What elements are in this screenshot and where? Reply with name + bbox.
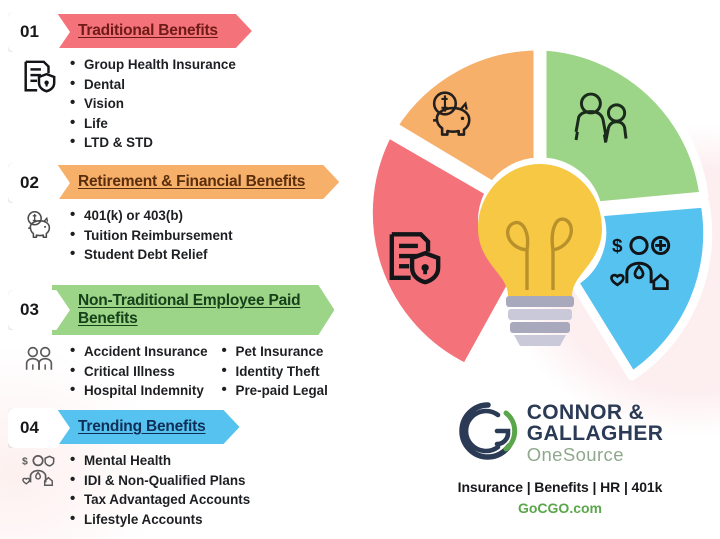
list-item: Tuition Reimbursement <box>70 226 233 246</box>
bullet-column-1: 401(k) or 403(b) Tuition Reimbursement S… <box>70 206 233 265</box>
bullet-column-1: Group Health Insurance Dental Vision Lif… <box>70 55 236 153</box>
section-banner: Traditional Benefits 01 <box>0 12 392 50</box>
list-item: Vision <box>70 94 236 114</box>
list-item: Pet Insurance <box>222 342 328 362</box>
list-item: LTD & STD <box>70 133 236 153</box>
section-title-chevron: Traditional Benefits <box>52 14 252 48</box>
section-banner: Trending Benefits 04 <box>0 408 392 446</box>
list-item: IDI & Non-Qualified Plans <box>70 471 250 491</box>
benefit-section-01: Traditional Benefits 01 <box>0 12 392 153</box>
document-shield-icon <box>8 54 70 153</box>
section-body: 401(k) or 403(b) Tuition Reimbursement S… <box>0 201 392 265</box>
section-number: 02 <box>20 173 39 193</box>
wellness-person-icon: $ <box>8 450 70 529</box>
list-item: Identity Theft <box>222 362 328 382</box>
benefit-section-02: Retirement & Financial Benefits 02 <box>0 163 392 265</box>
section-bullet-list: Group Health Insurance Dental Vision Lif… <box>70 54 236 153</box>
benefit-section-04: Trending Benefits 04 $ <box>0 408 392 529</box>
cgo-monogram-logo <box>457 400 519 467</box>
section-title-line2: Benefits <box>78 310 138 328</box>
logo-line-1: CONNOR & <box>527 402 664 423</box>
section-bullet-list: Accident Insurance Critical Illness Hosp… <box>70 341 328 401</box>
list-item: Tax Advantaged Accounts <box>70 490 250 510</box>
benefits-list-column: Traditional Benefits 01 <box>0 0 392 539</box>
bullet-column-2: Pet Insurance Identity Theft Pre-paid Le… <box>222 342 328 401</box>
list-item: Group Health Insurance <box>70 55 236 75</box>
section-title: Trending Benefits <box>78 418 206 436</box>
section-body: Accident Insurance Critical Illness Hosp… <box>0 337 392 401</box>
section-title-chevron: Trending Benefits <box>52 410 240 444</box>
list-item: Accident Insurance <box>70 342 208 362</box>
list-item: 401(k) or 403(b) <box>70 206 233 226</box>
list-item: Mental Health <box>70 451 250 471</box>
section-title-chevron: Retirement & Financial Benefits <box>52 165 339 199</box>
section-body: Group Health Insurance Dental Vision Lif… <box>0 50 392 153</box>
section-title-line1: Non-Traditional Employee Paid <box>78 292 300 310</box>
infographic-canvas: Traditional Benefits 01 <box>0 0 720 539</box>
section-number: 01 <box>20 22 39 42</box>
list-item: Pre-paid Legal <box>222 381 328 401</box>
section-bullet-list: Mental Health IDI & Non-Qualified Plans … <box>70 450 250 529</box>
section-banner: Non-Traditional Employee Paid Benefits 0… <box>0 283 392 337</box>
company-logo-block: CONNOR & GALLAGHER OneSource Insurance |… <box>410 400 710 516</box>
logo-line-3: OneSource <box>527 444 664 465</box>
bullet-column-1: Accident Insurance Critical Illness Hosp… <box>70 342 208 401</box>
section-banner: Retirement & Financial Benefits 02 <box>0 163 392 201</box>
list-item: Life <box>70 114 236 134</box>
logo-tagline: Insurance | Benefits | HR | 401k <box>410 479 710 495</box>
list-item: Critical Illness <box>70 362 208 382</box>
logo-line-2: GALLAGHER <box>527 423 664 444</box>
list-item: Dental <box>70 75 236 95</box>
list-item: Lifestyle Accounts <box>70 510 250 530</box>
section-title: Retirement & Financial Benefits <box>78 173 305 191</box>
benefit-section-03: Non-Traditional Employee Paid Benefits 0… <box>0 283 392 401</box>
list-item: Student Debt Relief <box>70 245 233 265</box>
benefits-petal-diagram: $ <box>360 38 720 398</box>
website-url[interactable]: GoCGO.com <box>410 500 710 516</box>
svg-text:$: $ <box>22 456 28 467</box>
section-number: 04 <box>20 418 39 438</box>
two-people-icon <box>8 341 70 401</box>
section-title-chevron: Non-Traditional Employee Paid Benefits <box>52 285 334 335</box>
section-title: Traditional Benefits <box>78 22 218 40</box>
svg-text:$: $ <box>612 236 623 257</box>
piggy-bank-icon <box>8 205 70 265</box>
section-number: 03 <box>20 300 39 320</box>
section-body: $ Mental Health IDI & Non-Qualified Plan… <box>0 446 392 529</box>
list-item: Hospital Indemnity <box>70 381 208 401</box>
section-bullet-list: 401(k) or 403(b) Tuition Reimbursement S… <box>70 205 233 265</box>
bullet-column-1: Mental Health IDI & Non-Qualified Plans … <box>70 451 250 529</box>
